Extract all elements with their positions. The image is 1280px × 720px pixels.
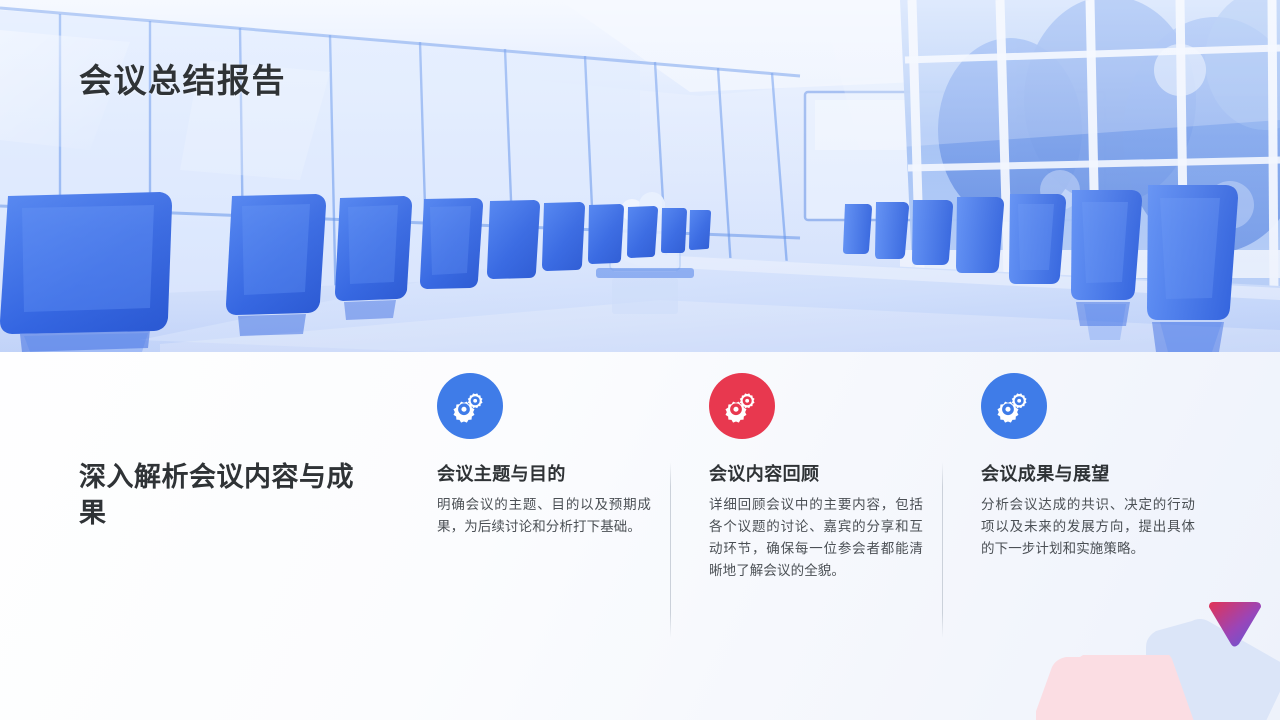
- page-title: 会议总结报告: [79, 54, 286, 102]
- feature-title-3: 会议成果与展望: [981, 460, 1197, 486]
- hero-image: 会议总结报告: [0, 0, 1280, 352]
- feature-title-2: 会议内容回顾: [709, 460, 925, 486]
- feature-text-1: 明确会议的主题、目的以及预期成果，为后续讨论和分析打下基础。: [437, 494, 651, 538]
- feature-title-1: 会议主题与目的: [437, 460, 653, 486]
- feature-text-3: 分析会议达成的共识、决定的行动项以及未来的发展方向，提出具体的下一步计划和实施策…: [981, 494, 1195, 560]
- gears-icon: [453, 389, 487, 423]
- gears-icon-badge-1[interactable]: [437, 373, 503, 439]
- column-divider-2: [942, 462, 943, 638]
- feature-columns: 会议主题与目的 明确会议的主题、目的以及预期成果，为后续讨论和分析打下基础。: [437, 352, 1237, 720]
- feature-text-2: 详细回顾会议中的主要内容，包括各个议题的讨论、嘉宾的分享和互动环节，确保每一位参…: [709, 494, 923, 581]
- content-area: 深入解析会议内容与成果 会议主: [0, 352, 1280, 720]
- gears-icon: [725, 389, 759, 423]
- conference-room-illustration: [0, 0, 1280, 352]
- gears-icon-badge-3[interactable]: [981, 373, 1047, 439]
- slide-canvas: 会议总结报告 深入解析会议内容与成果: [0, 0, 1280, 720]
- lead-heading: 深入解析会议内容与成果: [79, 460, 379, 531]
- column-divider-1: [670, 462, 671, 638]
- gears-icon-badge-2[interactable]: [709, 373, 775, 439]
- gears-icon: [997, 389, 1031, 423]
